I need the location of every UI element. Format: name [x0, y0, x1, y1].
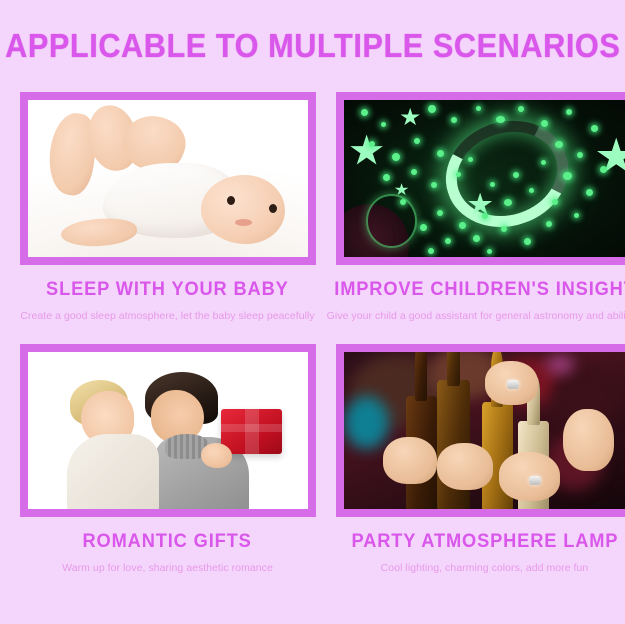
woman-sweater: [67, 434, 159, 509]
finger-ring: [507, 380, 519, 389]
star-dot: [552, 199, 558, 205]
star-dot: [476, 106, 481, 111]
star-dot: [428, 105, 436, 113]
star-dot: [574, 213, 579, 218]
star-dot: [482, 213, 488, 219]
baby-eye-left: [227, 196, 235, 205]
star-dot: [437, 210, 443, 216]
star-dot: [546, 221, 552, 227]
star-dot: [600, 166, 607, 173]
star-dot: [518, 106, 524, 112]
gift-ribbon-horizontal: [221, 424, 283, 432]
row-spacer: [332, 322, 625, 344]
scenario-subtitle-romantic-gifts: Warm up for love, sharing aesthetic roma…: [62, 562, 273, 574]
star-dot: [586, 189, 593, 196]
star-dot: [496, 116, 505, 123]
star-dot: [459, 222, 466, 229]
photo-frame-romantic-gifts: [20, 344, 316, 517]
star-dot: [431, 182, 437, 188]
scenario-title-improve-childrens-insight: IMPROVE CHILDREN'S INSIGHT: [334, 279, 625, 301]
crescent-moon-shape: [432, 105, 582, 242]
scenario-title-sleep-with-your-baby: SLEEP WITH YOUR BABY: [46, 279, 289, 301]
star-dot: [490, 182, 495, 187]
page-header: APPLICABLE TO MULTIPLE SCENARIOS: [0, 0, 625, 92]
scenario-title-romantic-gifts: ROMANTIC GIFTS: [83, 531, 252, 553]
star-dot: [369, 141, 375, 147]
star-dot: [591, 125, 598, 132]
scenario-grid: SLEEP WITH YOUR BABY Create a good sleep…: [0, 92, 625, 574]
scenario-subtitle-improve-childrens-insight: Give your child a good assistant for gen…: [327, 310, 625, 322]
star-dot: [411, 169, 417, 175]
star-dot: [577, 152, 583, 158]
star-dot: [524, 238, 531, 245]
photo-romantic-couple: [28, 352, 308, 509]
photo-frame-party-atmosphere-lamp: [336, 344, 625, 517]
row-spacer: [12, 322, 323, 344]
baby-arm: [60, 217, 137, 249]
star-dot: [420, 224, 427, 231]
photo-frame-improve-childrens-insight: [336, 92, 625, 265]
star-dot: [487, 249, 492, 254]
star-dot: [468, 157, 473, 162]
scenario-card-sleep-with-your-baby[interactable]: SLEEP WITH YOUR BABY Create a good sleep…: [12, 92, 323, 322]
star-dot: [555, 141, 563, 148]
photo-party-cheers: [344, 352, 625, 509]
star-dot: [437, 150, 444, 157]
star-dot: [445, 238, 451, 244]
star-shape-large-left: [350, 135, 384, 168]
star-dot: [451, 117, 457, 123]
scenario-card-improve-childrens-insight[interactable]: IMPROVE CHILDREN'S INSIGHT Give your chi…: [332, 92, 625, 322]
hand-holding-gift: [201, 443, 232, 468]
hand-holding-bottle: [563, 409, 614, 472]
star-dot: [383, 174, 390, 181]
hand-holding-bottle: [383, 437, 436, 484]
star-dot: [541, 120, 548, 127]
projector-lamp-rim: [366, 194, 417, 247]
page-title: APPLICABLE TO MULTIPLE SCENARIOS: [5, 27, 620, 65]
star-dot: [513, 172, 519, 178]
scenario-card-romantic-gifts[interactable]: ROMANTIC GIFTS Warm up for love, sharing…: [12, 344, 323, 574]
photo-star-projection: [344, 100, 625, 257]
star-dot: [361, 109, 368, 116]
background-bokeh: [344, 396, 389, 449]
scenario-title-party-atmosphere-lamp: PARTY ATMOSPHERE LAMP: [351, 531, 618, 553]
photo-frame-sleep-with-your-baby: [20, 92, 316, 265]
star-dot: [428, 248, 434, 254]
scenario-subtitle-sleep-with-your-baby: Create a good sleep atmosphere, let the …: [20, 310, 314, 322]
star-dot: [563, 172, 572, 180]
star-dot: [414, 138, 420, 144]
photo-baby: [28, 100, 308, 257]
star-dot: [381, 122, 386, 127]
star-dot: [541, 160, 546, 165]
baby-eye-right: [269, 204, 277, 213]
scenario-card-party-atmosphere-lamp[interactable]: PARTY ATMOSPHERE LAMP Cool lighting, cha…: [332, 344, 625, 574]
scenario-subtitle-party-atmosphere-lamp: Cool lighting, charming colors, add more…: [381, 562, 589, 574]
star-dot: [501, 226, 507, 232]
finger-ring: [529, 476, 541, 485]
hand-holding-bottle: [437, 443, 493, 490]
star-shape-top-left: [400, 108, 420, 127]
star-dot: [392, 153, 400, 161]
star-dot: [473, 235, 480, 242]
star-dot: [566, 109, 572, 115]
star-dot: [504, 199, 512, 206]
